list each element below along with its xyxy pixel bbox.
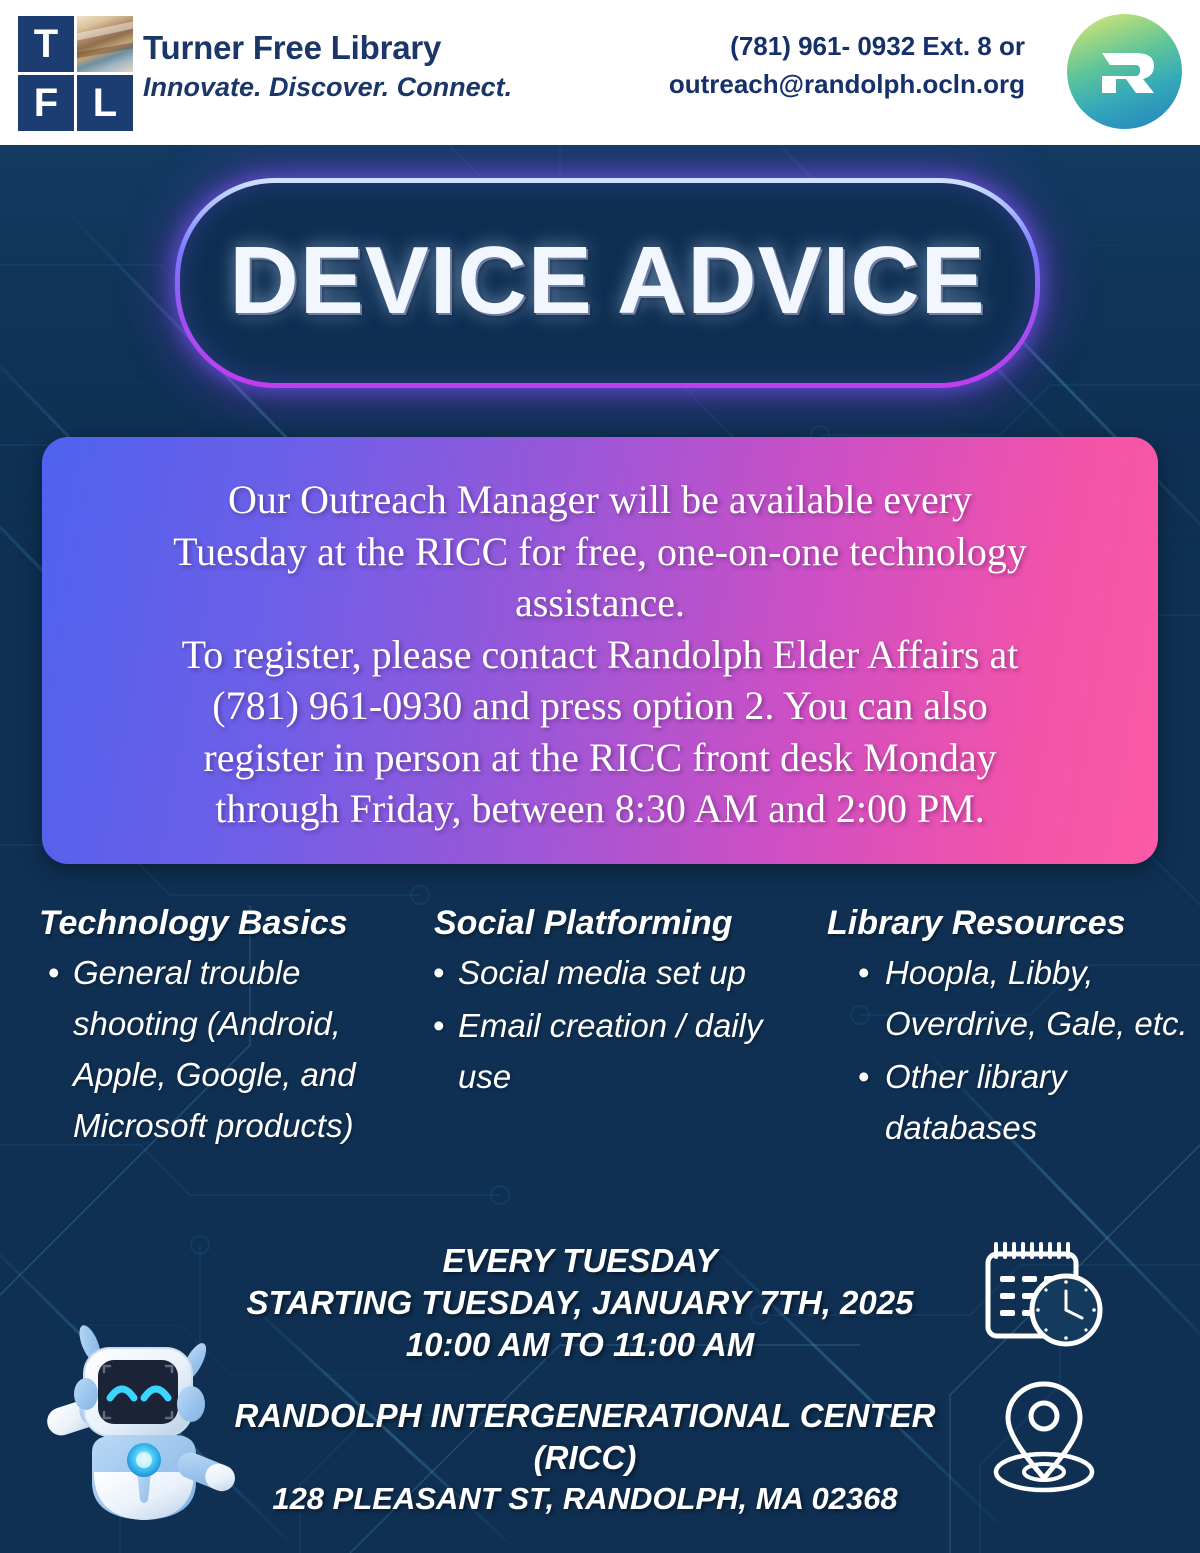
column-title: Library Resources [823,905,1188,942]
info-line: assistance. [72,577,1128,629]
contact-phone: (781) 961- 0932 Ext. 8 or [669,28,1025,66]
venue-block: RANDOLPH INTERGENERATIONAL CENTER (RICC)… [180,1395,990,1518]
logo-letter-l: L [77,75,133,131]
column-social-platforming: Social Platforming Social media set up E… [400,905,805,1156]
venue-address: 128 PLEASANT ST, RANDOLPH, MA 02368 [180,1479,990,1518]
column-list: Social media set up Email creation / dai… [420,948,795,1102]
column-list: General trouble shooting (Android, Apple… [35,948,390,1151]
info-line: Our Outreach Manager will be available e… [72,474,1128,526]
venue-name: RANDOLPH INTERGENERATIONAL CENTER [180,1395,990,1437]
page-title: DEVICE ADVICE [180,226,1035,336]
column-technology-basics: Technology Basics General trouble shooti… [0,905,400,1156]
schedule-block: EVERY TUESDAY STARTING TUESDAY, JANUARY … [180,1240,980,1366]
column-library-resources: Library Resources Hoopla, Libby, Overdri… [805,905,1200,1156]
list-item: Email creation / daily use [458,1001,795,1103]
column-title: Social Platforming [420,905,795,942]
list-item: General trouble shooting (Android, Apple… [73,948,390,1151]
neon-title-frame: DEVICE ADVICE [175,178,1040,388]
header-bar: T F L Turner Free Library Innovate. Disc… [0,0,1200,145]
device-advice-flyer: T F L Turner Free Library Innovate. Disc… [0,0,1200,1553]
stacked-books-icon [77,16,133,72]
info-line: (781) 961-0930 and press option 2. You c… [72,680,1128,732]
info-line: through Friday, between 8:30 AM and 2:00… [72,783,1128,835]
turner-free-library-logo: T F L [18,16,133,131]
randolph-r-logo [1067,14,1182,129]
service-columns: Technology Basics General trouble shooti… [0,905,1200,1156]
calendar-clock-icon [978,1238,1104,1356]
contact-info: (781) 961- 0932 Ext. 8 or outreach@rando… [669,28,1025,103]
info-description-box: Our Outreach Manager will be available e… [42,437,1158,864]
robot-mascot-icon [44,1322,244,1537]
schedule-time: 10:00 AM TO 11:00 AM [180,1324,980,1366]
info-line: Tuesday at the RICC for free, one-on-one… [72,526,1128,578]
logo-letter-f: F [18,75,74,131]
schedule-start-date: STARTING TUESDAY, JANUARY 7TH, 2025 [180,1282,980,1324]
list-item: Social media set up [458,948,795,999]
column-title: Technology Basics [35,905,390,942]
venue-abbrev: (RICC) [180,1437,990,1479]
logo-letter-t: T [18,16,74,72]
list-item: Other library databases [885,1052,1188,1154]
location-pin-icon [988,1372,1100,1497]
list-item: Hoopla, Libby, Overdrive, Gale, etc. [885,948,1188,1050]
brand-name: Turner Free Library [143,30,512,66]
contact-email[interactable]: outreach@randolph.ocln.org [669,66,1025,104]
column-list: Hoopla, Libby, Overdrive, Gale, etc. Oth… [823,948,1188,1153]
info-line: register in person at the RICC front des… [72,732,1128,784]
schedule-frequency: EVERY TUESDAY [180,1240,980,1282]
brand-text: Turner Free Library Innovate. Discover. … [143,30,512,103]
info-line: To register, please contact Randolph Eld… [72,629,1128,681]
brand-tagline: Innovate. Discover. Connect. [143,72,512,103]
